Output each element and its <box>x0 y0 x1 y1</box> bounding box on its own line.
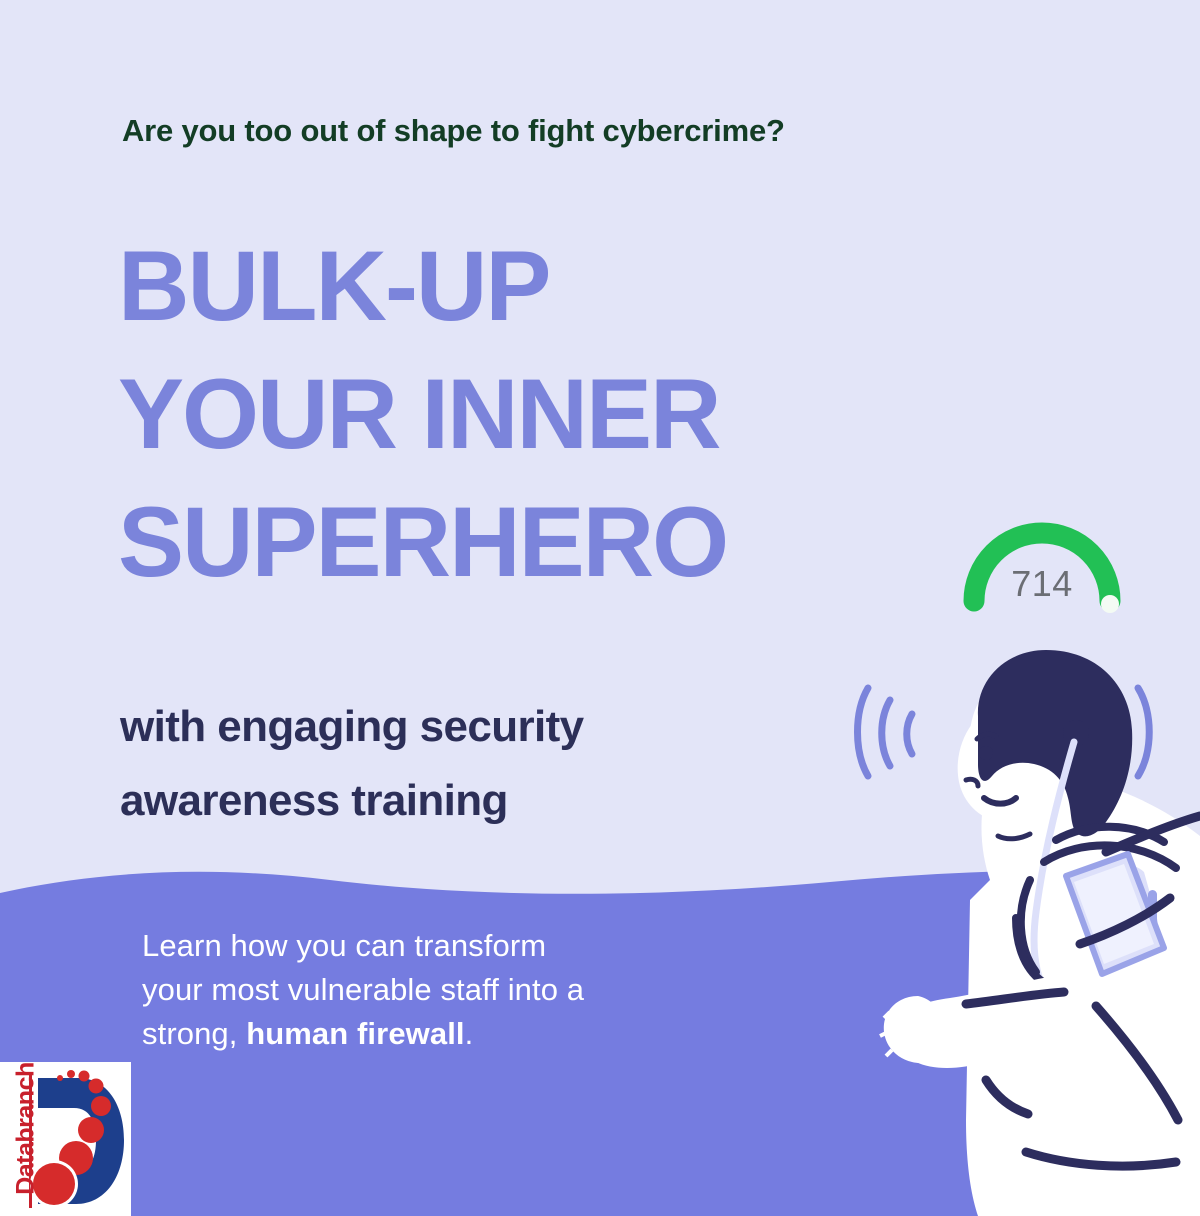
body-copy-emphasis: human firewall <box>246 1016 464 1051</box>
page-title: BULK-UP YOUR INNER SUPERHERO <box>118 222 918 606</box>
body-copy-line-3-prefix: strong, <box>142 1016 246 1051</box>
eyebrow-question: Are you too out of shape to fight cyberc… <box>122 113 785 149</box>
gauge-score-value: 714 <box>952 563 1132 605</box>
body-copy-line-2: your most vulnerable staff into a <box>142 968 702 1012</box>
runner-eye <box>979 746 993 760</box>
body-copy-line-3: strong, human firewall. <box>142 1012 702 1056</box>
subheading-line-1: with engaging security <box>120 690 820 764</box>
subheading: with engaging security awareness trainin… <box>120 690 820 838</box>
headline-line-2: YOUR INNER <box>118 350 918 478</box>
soundwave-left-icon <box>858 688 913 776</box>
running-person-illustration <box>820 600 1200 1216</box>
headline-line-3: SUPERHERO <box>118 478 918 606</box>
body-copy-line-3-suffix: . <box>465 1016 474 1051</box>
body-copy-line-1: Learn how you can transform <box>142 924 702 968</box>
subheading-line-2: awareness training <box>120 764 820 838</box>
logo-wordmark: Databranch <box>12 1059 41 1199</box>
databranch-logo: Databranch <box>0 1062 131 1216</box>
body-copy: Learn how you can transform your most vu… <box>142 924 702 1056</box>
poster-canvas: Are you too out of shape to fight cyberc… <box>0 0 1200 1216</box>
headline-line-1: BULK-UP <box>118 222 918 350</box>
